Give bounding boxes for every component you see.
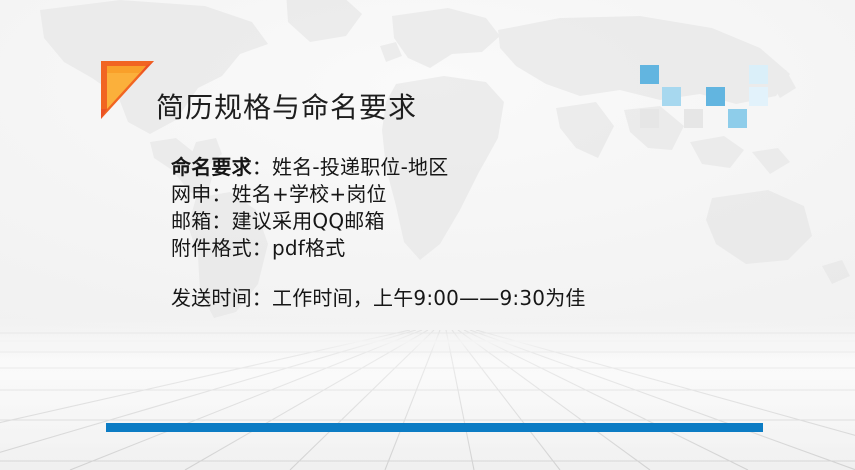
body-line-emphasis: 命名要求 bbox=[171, 155, 252, 179]
body-line: 附件格式：pdf格式 bbox=[171, 235, 731, 262]
body-line: 发送时间：工作时间，上午9:00——9:30为佳 bbox=[171, 285, 731, 312]
mosaic-square bbox=[706, 87, 725, 106]
page-title: 简历规格与命名要求 bbox=[156, 91, 417, 125]
blue-square-mosaic-icon bbox=[636, 60, 736, 118]
body-line-text: ：姓名-投递职位-地区 bbox=[252, 155, 449, 179]
mosaic-square bbox=[749, 87, 768, 106]
body-line-text: 邮箱：建议采用QQ邮箱 bbox=[171, 209, 385, 233]
bottom-accent-bar bbox=[106, 423, 763, 432]
body-line-text: 发送时间：工作时间，上午9:00——9:30为佳 bbox=[171, 286, 586, 310]
body-text-block: 命名要求：姓名-投递职位-地区 网申：姓名+学校+岗位 邮箱：建议采用QQ邮箱 … bbox=[171, 154, 731, 312]
body-line: 网申：姓名+学校+岗位 bbox=[171, 181, 731, 208]
mosaic-square bbox=[684, 109, 703, 128]
orange-triangle-logo-icon bbox=[99, 59, 156, 121]
mosaic-square bbox=[662, 87, 681, 106]
perspective-floor bbox=[0, 330, 855, 470]
body-line-text: 附件格式：pdf格式 bbox=[171, 236, 345, 260]
mosaic-square bbox=[728, 109, 747, 128]
body-line-text: 网申：姓名+学校+岗位 bbox=[171, 182, 387, 206]
mosaic-square bbox=[749, 65, 768, 84]
body-line: 命名要求：姓名-投递职位-地区 bbox=[171, 154, 731, 181]
mosaic-square bbox=[640, 109, 659, 128]
mosaic-square bbox=[640, 65, 659, 84]
body-line: 邮箱：建议采用QQ邮箱 bbox=[171, 208, 731, 235]
slide-canvas: 简历规格与命名要求 命名要求：姓名-投递职位-地区 网申：姓名+学校+岗位 邮箱… bbox=[0, 0, 855, 470]
